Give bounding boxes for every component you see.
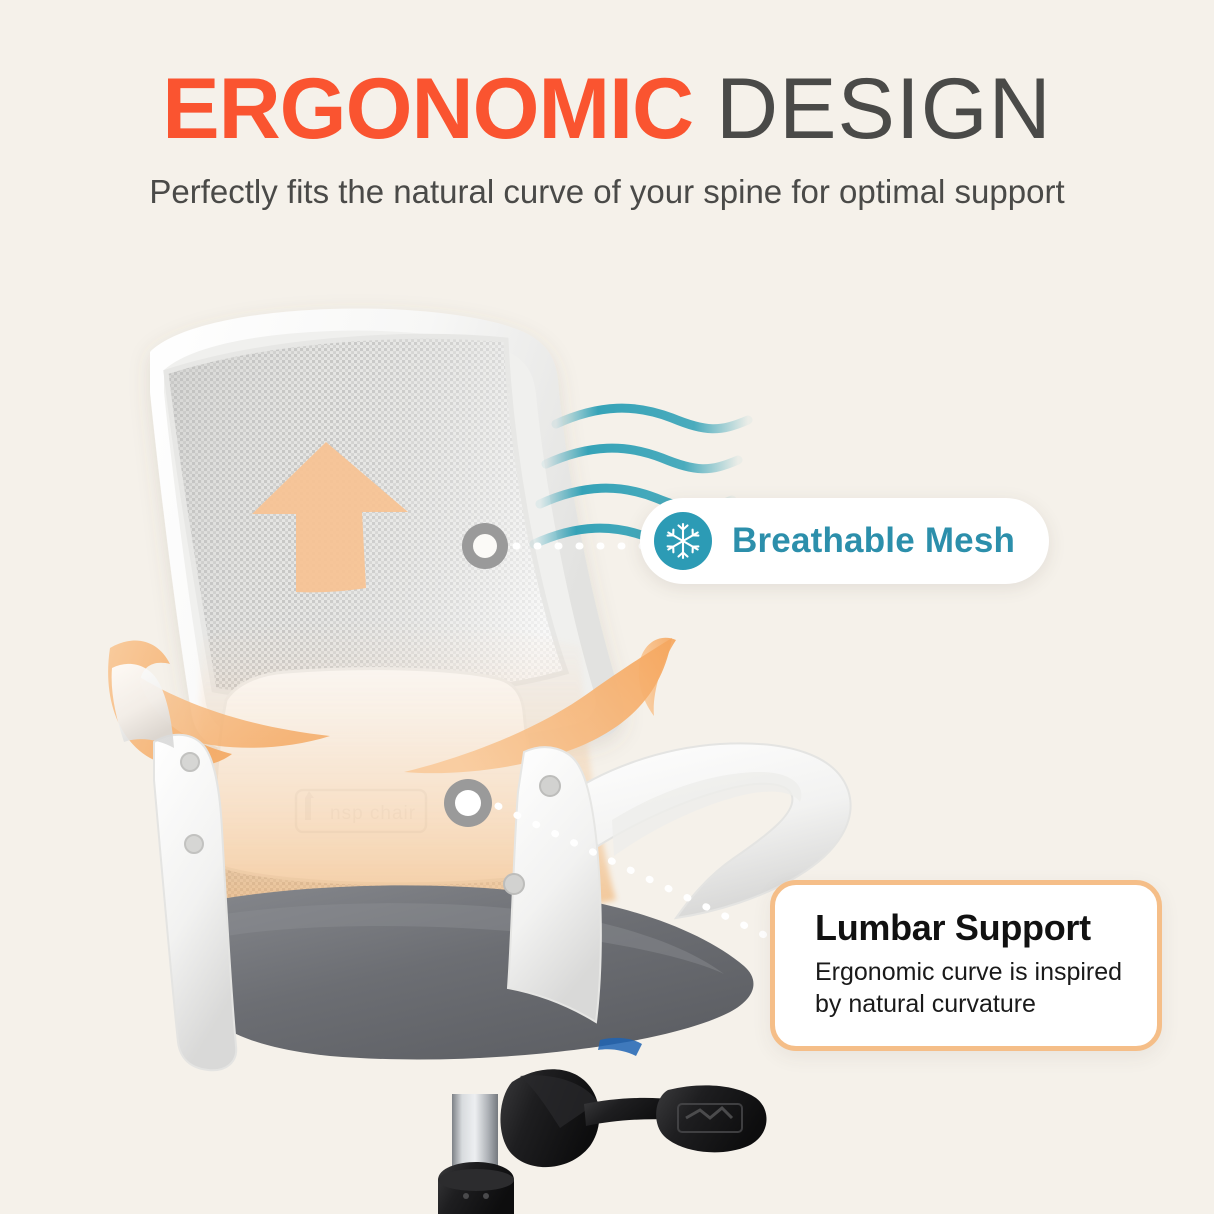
chair-base-mechanism	[438, 1038, 766, 1214]
callout-breathable-mesh[interactable]: Breathable Mesh	[640, 498, 1049, 584]
hotspot-marker-lumbar[interactable]	[444, 779, 492, 827]
page-title: ERGONOMIC DESIGN	[0, 0, 1214, 152]
page-title-rest: DESIGN	[716, 61, 1052, 157]
chair-back-upright-right	[504, 747, 601, 1022]
callout-lumbar-body-line1: Ergonomic curve is inspired	[815, 958, 1122, 986]
callout-lumbar-support-body: Ergonomic curve is inspiredby natural cu…	[815, 956, 1131, 1020]
snowflake-icon	[654, 512, 712, 570]
hotspot-marker-mesh[interactable]	[462, 523, 508, 569]
page-subtitle: Perfectly fits the natural curve of your…	[0, 152, 1214, 210]
callout-lumbar-support[interactable]: Lumbar Support Ergonomic curve is inspir…	[770, 880, 1162, 1051]
hotspot-marker-inner	[473, 534, 497, 558]
infographic-canvas: nsp chair	[0, 0, 1214, 1214]
callout-breathable-mesh-label: Breathable Mesh	[732, 521, 1015, 561]
page-title-highlight: ERGONOMIC	[162, 61, 693, 157]
header: ERGONOMIC DESIGN Perfectly fits the natu…	[0, 0, 1214, 210]
callout-lumbar-body-line2: by natural curvature	[815, 990, 1036, 1018]
callout-lumbar-support-title: Lumbar Support	[815, 907, 1131, 948]
hotspot-marker-inner	[455, 790, 481, 816]
chair-seat	[185, 885, 753, 1059]
